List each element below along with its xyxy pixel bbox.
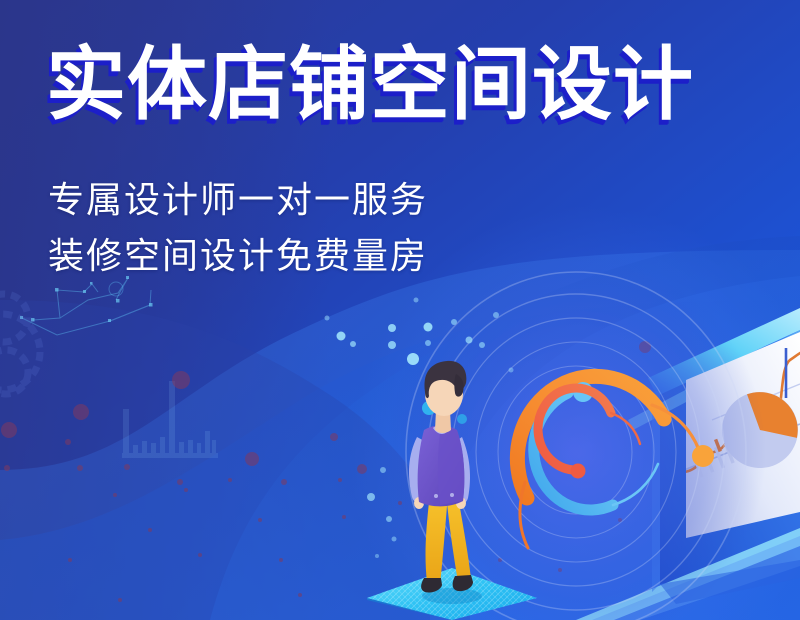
- banner-subtitle-line-1: 专属设计师一对一服务: [48, 178, 428, 222]
- banner-title: 实体店铺空间设计: [46, 42, 694, 128]
- banner-subtitle-line-2: 装修空间设计免费量房: [48, 234, 428, 278]
- promo-banner: 实体店铺空间设计 专属设计师一对一服务 装修空间设计免费量房: [0, 0, 800, 620]
